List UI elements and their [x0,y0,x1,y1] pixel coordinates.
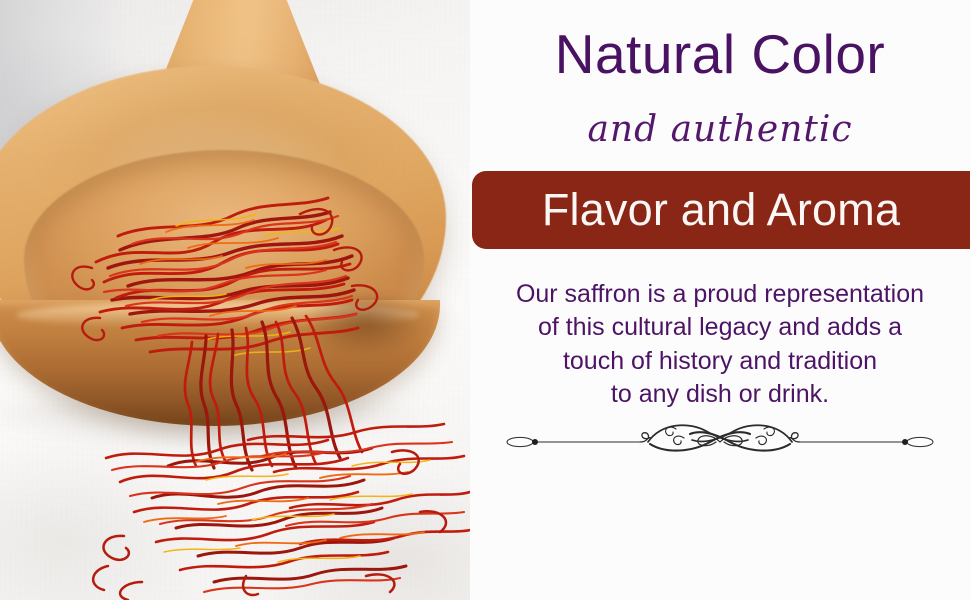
saffron-product-banner: Natural Color and authentic Flavor and A… [0,0,970,600]
copy-panel: Natural Color and authentic Flavor and A… [470,0,970,600]
subheadline: and authentic [470,112,970,148]
saffron-pile-in-bowl [72,198,377,356]
body-line: Our saffron is a proud representation [478,278,962,311]
saffron-scatter-on-table [93,424,470,600]
flavor-aroma-ribbon: Flavor and Aroma [472,171,970,249]
product-photo [0,0,470,600]
saffron-threads [0,0,470,600]
body-copy: Our saffron is a proud representation of… [478,278,962,411]
body-line: of this cultural legacy and adds a [478,311,962,344]
flourish-icon [500,420,940,464]
headline: Natural Color [470,26,970,84]
ribbon-label: Flavor and Aroma [542,187,900,232]
body-line: to any dish or drink. [478,378,962,411]
ornamental-divider [500,420,940,464]
body-line: touch of history and tradition [478,345,962,378]
